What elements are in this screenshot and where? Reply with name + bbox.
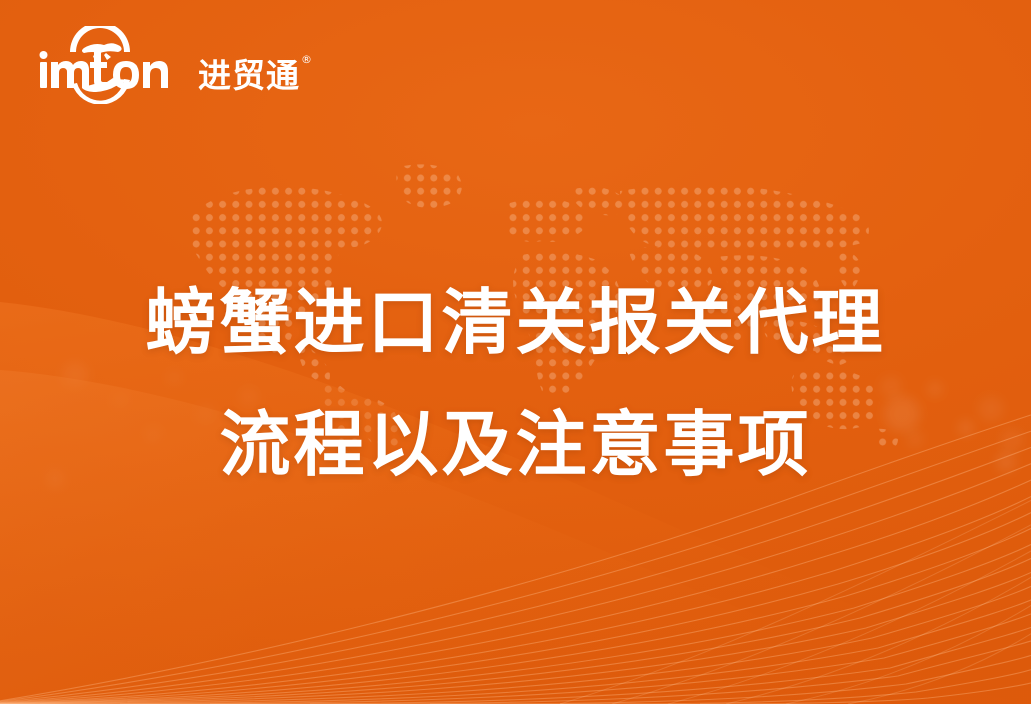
page-title: 螃蟹进口清关报关代理 流程以及注意事项 [0,262,1031,506]
headline-line-1: 螃蟹进口清关报关代理 [0,262,1031,384]
registered-trademark-icon: ® [301,54,313,65]
headline-line-2: 流程以及注意事项 [0,384,1031,506]
globe-with-airplane-icon [38,26,196,104]
logo-chinese-text: 进贸通 [198,56,300,95]
promo-banner: 进贸通 ® 螃蟹进口清关报关代理 流程以及注意事项 [0,0,1031,704]
logo-chinese-wordmark: 进贸通 ® [198,59,300,104]
brand-logo[interactable]: 进贸通 ® [38,26,300,104]
